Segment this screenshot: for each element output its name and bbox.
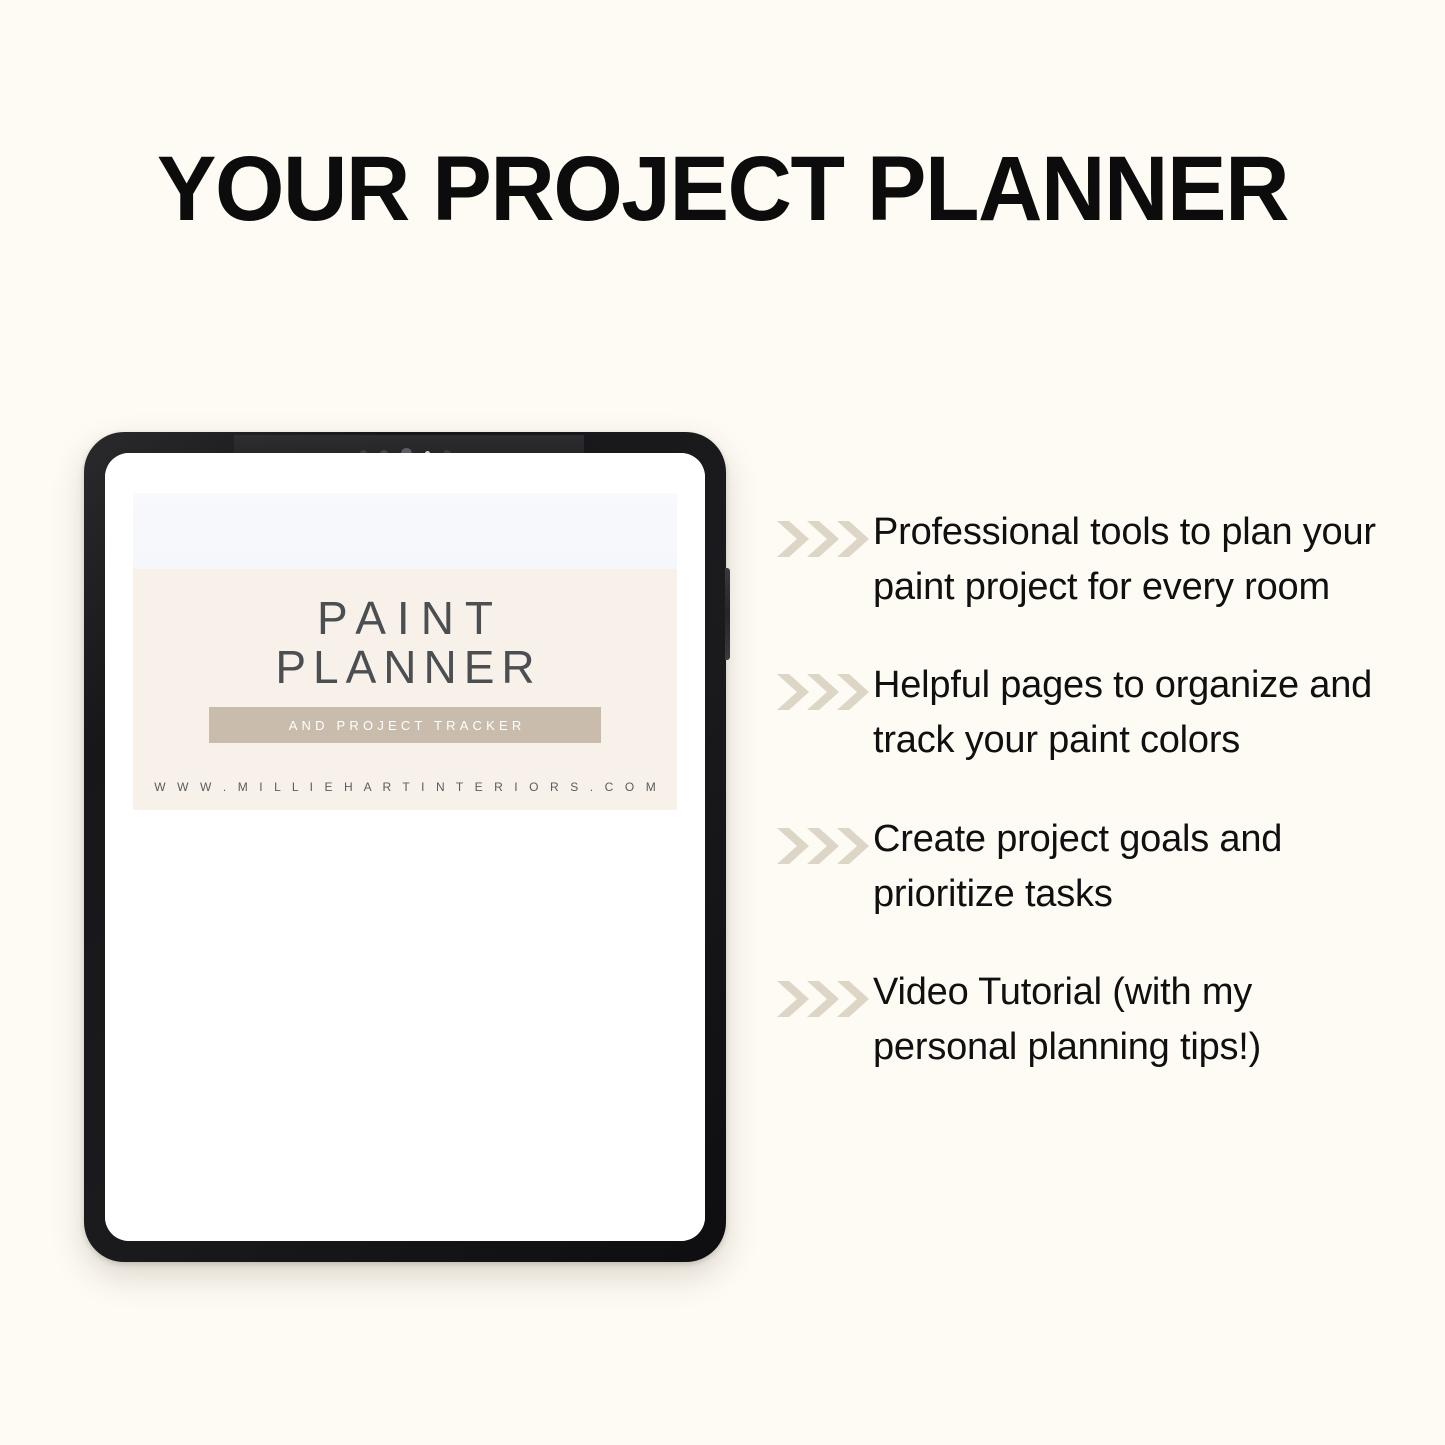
cover-subtitle-banner: AND PROJECT TRACKER — [209, 707, 601, 743]
feature-list: Professional tools to plan your paint pr… — [775, 505, 1395, 1075]
planner-cover-page: PAINT PLANNER AND PROJECT TRACKER — [105, 453, 705, 1241]
feature-item: Video Tutorial (with my personal plannin… — [775, 965, 1395, 1074]
feature-text: Create project goals and prioritize task… — [873, 812, 1395, 921]
feature-item: Helpful pages to organize and track your… — [775, 658, 1395, 767]
tablet-screen: PAINT PLANNER AND PROJECT TRACKER — [105, 453, 705, 1241]
website-url: W W W . M I L L I E H A R T I N T E R I … — [133, 780, 677, 794]
cover-content: PAINT PLANNER AND PROJECT TRACKER — [133, 493, 677, 1193]
feature-text: Helpful pages to organize and track your… — [873, 658, 1395, 767]
triple-chevron-right-icon — [775, 965, 873, 1019]
cover-footer: W W W . M I L L I E H A R T I N T E R I … — [133, 763, 677, 810]
cover-title-line-1: PAINT — [133, 595, 677, 642]
page-title: YOUR PROJECT PLANNER — [22, 143, 1424, 235]
tablet-power-button[interactable] — [725, 568, 730, 660]
tablet-frame: PAINT PLANNER AND PROJECT TRACKER — [84, 432, 726, 1262]
feature-text: Professional tools to plan your paint pr… — [873, 505, 1395, 614]
triple-chevron-right-icon — [775, 658, 873, 712]
tablet-mockup: PAINT PLANNER AND PROJECT TRACKER — [84, 432, 726, 1262]
cover-title-line-2: PLANNER — [133, 644, 677, 691]
cover-header: PAINT PLANNER AND PROJECT TRACKER — [133, 569, 677, 763]
feature-text: Video Tutorial (with my personal plannin… — [873, 965, 1395, 1074]
triple-chevron-right-icon — [775, 505, 873, 559]
triple-chevron-right-icon — [775, 812, 873, 866]
cover-top-band — [133, 493, 677, 569]
feature-item: Professional tools to plan your paint pr… — [775, 505, 1395, 614]
feature-item: Create project goals and prioritize task… — [775, 812, 1395, 921]
